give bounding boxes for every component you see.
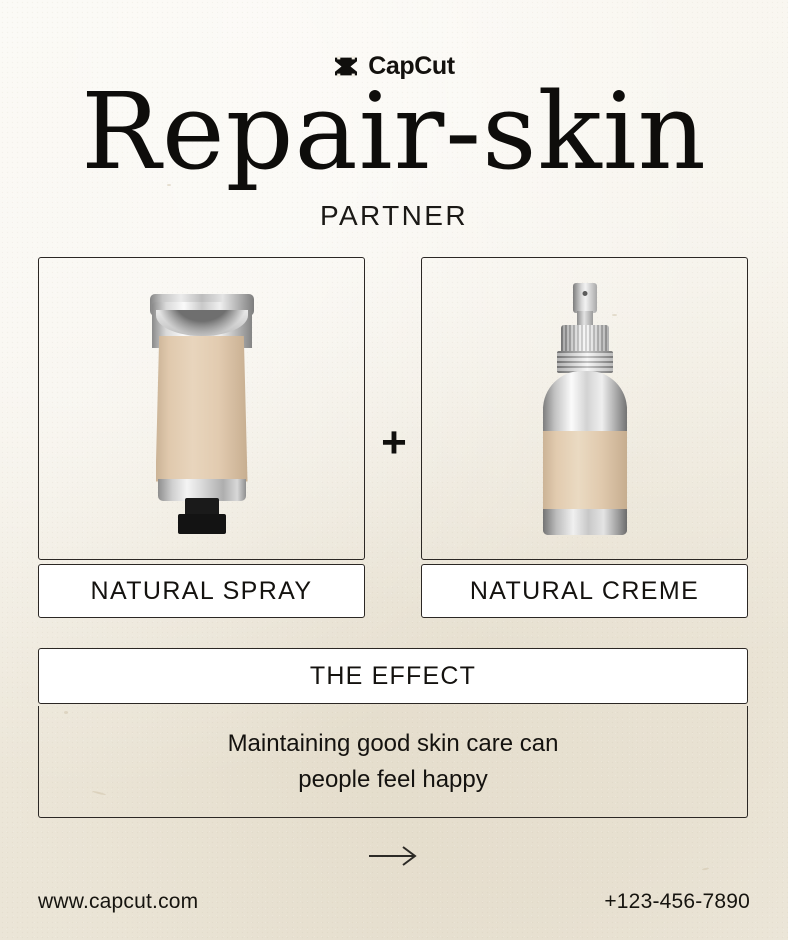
spray-nozzle-hole: [582, 291, 587, 296]
spray-bottle-label: [543, 431, 627, 509]
effect-description-box: Maintaining good skin care can people fe…: [38, 706, 748, 818]
product-image-card-1[interactable]: [38, 257, 365, 560]
product-label-card-1[interactable]: NATURAL SPRAY: [38, 564, 365, 618]
tube-body: [156, 336, 248, 482]
product-image-card-2[interactable]: [421, 257, 748, 560]
footer: www.capcut.com +123-456-7890: [38, 890, 750, 914]
cosmetic-tube-artwork: [148, 284, 256, 534]
effect-heading-box: THE EFFECT: [38, 648, 748, 704]
spray-bottle-artwork: [539, 283, 631, 535]
product-label-card-2[interactable]: NATURAL CREME: [421, 564, 748, 618]
effect-line-1: Maintaining good skin care can: [228, 728, 559, 759]
spray-nozzle: [573, 283, 597, 313]
paper-speck: [702, 867, 709, 870]
page-title: Repair-skin: [0, 78, 788, 186]
footer-phone[interactable]: +123-456-7890: [604, 890, 750, 914]
plus-icon: +: [374, 424, 414, 464]
footer-website[interactable]: www.capcut.com: [38, 890, 198, 914]
poster-canvas: CapCut Repair-skin PARTNER NATURAL SPRAY…: [0, 0, 788, 940]
page-subtitle: PARTNER: [0, 200, 788, 232]
effect-line-2: people feel happy: [298, 764, 488, 795]
spray-base: [543, 509, 627, 535]
tube-cap: [178, 514, 226, 534]
spray-threads: [557, 351, 613, 373]
effect-heading-text: THE EFFECT: [310, 662, 476, 691]
product-label-text-2: NATURAL CREME: [470, 577, 699, 606]
arrow-right-icon[interactable]: [368, 845, 420, 867]
product-label-text-1: NATURAL SPRAY: [91, 577, 313, 606]
